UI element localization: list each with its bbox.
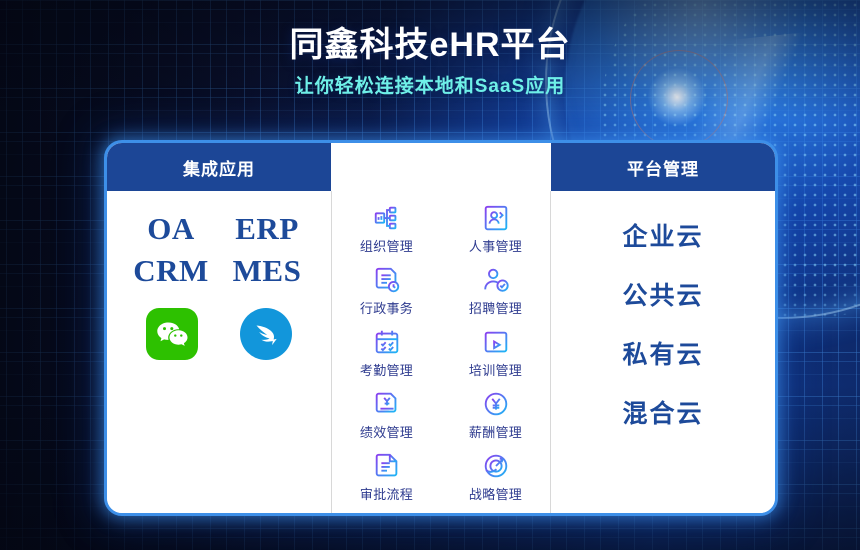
module-label: 组织管理 [360,236,413,255]
module-label: 战略管理 [469,484,522,503]
cloud-public[interactable]: 公共云 [622,276,703,312]
acronym-oa[interactable]: OA [147,209,195,249]
training-play-icon [481,327,511,357]
module-label: 人事管理 [469,236,522,255]
org-chart-icon [372,203,402,233]
page-subtitle: 让你轻松连接本地和SaaS应用 [0,71,860,98]
module-personnel-management[interactable]: 人事管理 [441,199,550,255]
acronym-crm[interactable]: CRM [133,251,209,291]
module-strategy[interactable]: 战略管理 [441,447,550,503]
module-administration[interactable]: 行政事务 [332,261,441,317]
header-spacer [331,143,551,191]
recruitment-icon [481,265,511,295]
module-attendance[interactable]: 考勤管理 [332,323,441,379]
card-body: OA ERP CRM MES [107,191,775,513]
module-org-management[interactable]: 组织管理 [332,199,441,255]
module-label: 考勤管理 [360,360,413,379]
tab-integrated-apps[interactable]: 集成应用 [107,143,331,191]
module-label: 绩效管理 [360,422,413,441]
performance-icon [372,389,402,419]
module-performance[interactable]: 绩效管理 [332,385,441,441]
module-approval-flow[interactable]: 审批流程 [332,447,441,503]
module-label: 薪酬管理 [469,422,522,441]
attendance-calendar-icon [372,327,402,357]
module-salary[interactable]: 薪酬管理 [441,385,550,441]
page-title: 同鑫科技eHR平台 [0,24,860,67]
hero-block: 同鑫科技eHR平台 让你轻松连接本地和SaaS应用 [0,24,860,98]
tab-platform-management[interactable]: 平台管理 [551,143,775,191]
module-label: 审批流程 [360,484,413,503]
module-label: 行政事务 [360,298,413,317]
wechat-icon[interactable] [146,308,198,360]
platform-card: 集成应用 平台管理 OA ERP CRM MES [104,140,778,516]
ehr-platform-banner: 同鑫科技eHR平台 让你轻松连接本地和SaaS应用 集成应用 平台管理 OA E… [0,0,860,550]
app-logo-row [107,308,331,360]
integrated-apps-panel: OA ERP CRM MES [107,191,331,513]
card-header: 集成应用 平台管理 [107,143,775,191]
module-recruitment[interactable]: 招聘管理 [441,261,550,317]
cloud-hybrid[interactable]: 混合云 [622,394,703,430]
module-grid: 组织管理 人事管理 [332,199,550,503]
acronym-grid: OA ERP CRM MES [107,209,331,292]
administration-icon [372,265,402,295]
platform-management-panel: 企业云 公共云 私有云 混合云 [551,191,775,513]
module-training[interactable]: 培训管理 [441,323,550,379]
hr-modules-panel: 组织管理 人事管理 [331,191,551,513]
cloud-private[interactable]: 私有云 [622,335,703,371]
module-label: 培训管理 [469,360,522,379]
module-label: 招聘管理 [469,298,522,317]
personnel-icon [481,203,511,233]
acronym-erp[interactable]: ERP [235,209,299,249]
dingtalk-icon[interactable] [240,308,292,360]
strategy-target-icon [481,451,511,481]
salary-yuan-icon [481,389,511,419]
approval-document-icon [372,451,402,481]
cloud-enterprise[interactable]: 企业云 [622,217,703,253]
acronym-mes[interactable]: MES [233,251,302,291]
